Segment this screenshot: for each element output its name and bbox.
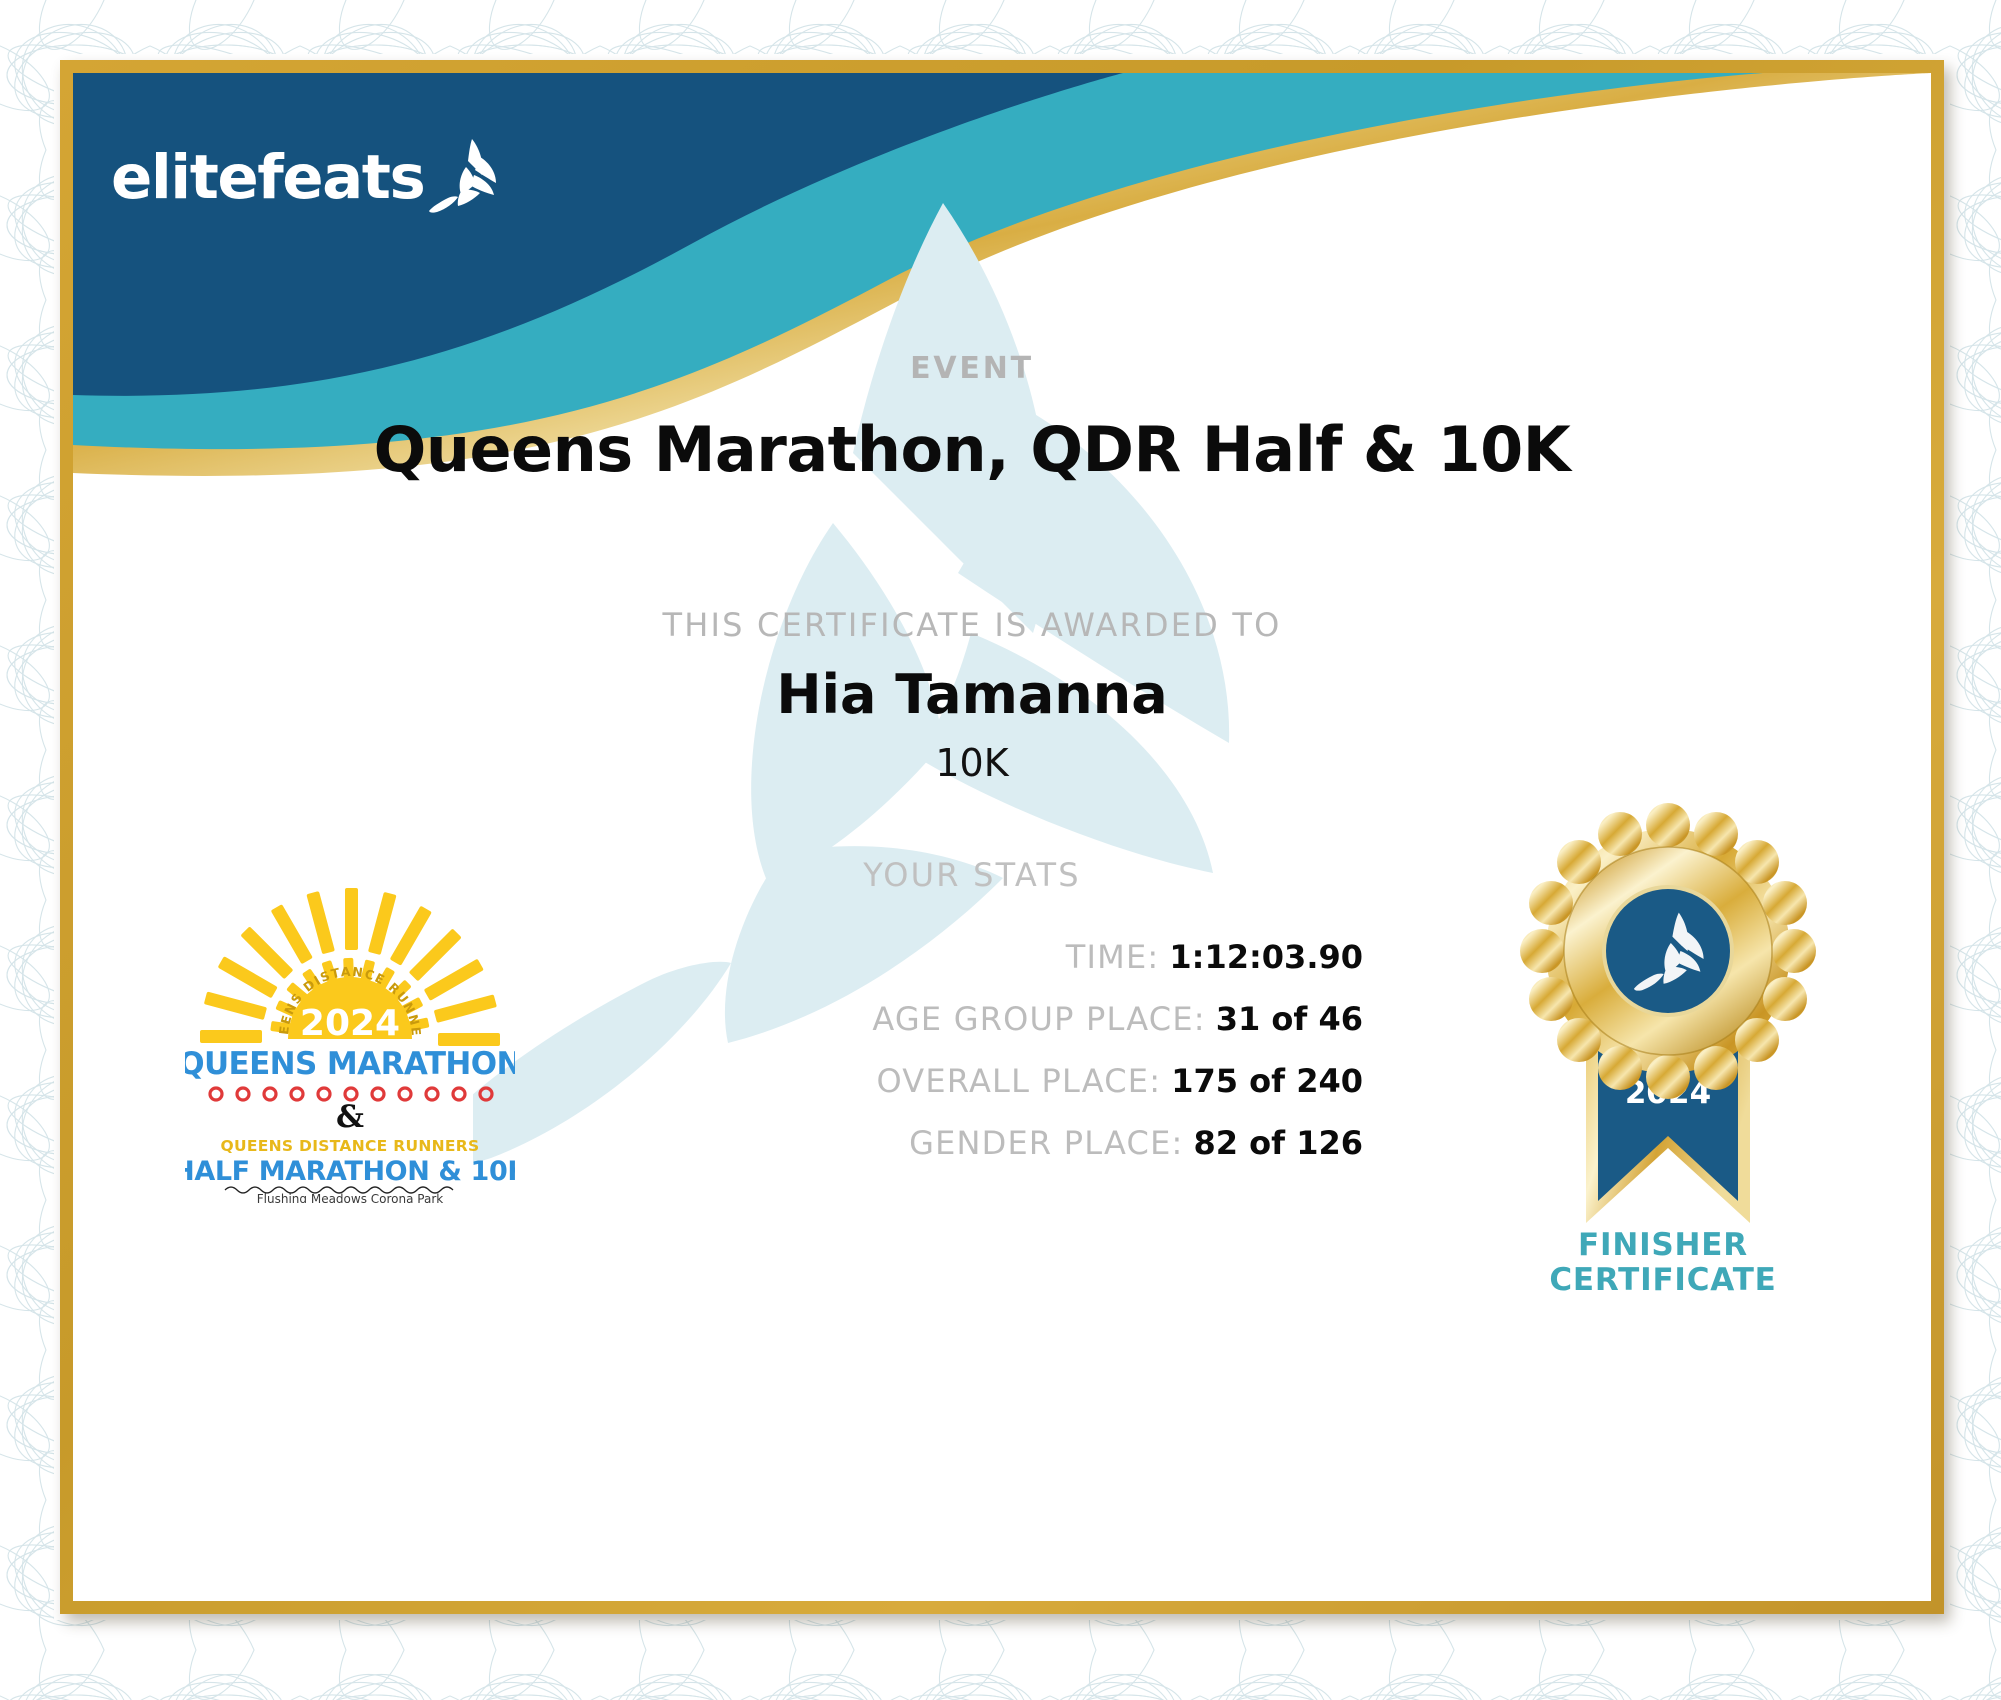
finisher-caption: FINISHER CERTIFICATE (1513, 1228, 1813, 1297)
logo-line2-small: QUEENS DISTANCE RUNNERS (220, 1137, 479, 1155)
finisher-caption-line1: FINISHER (1513, 1228, 1813, 1263)
certificate-content: EVENT Queens Marathon, QDR Half & 10K TH… (73, 73, 1931, 1601)
stat-row-time: TIME: 1:12:03.90 (503, 938, 1363, 976)
brand-logo: elitefeats (111, 135, 502, 219)
event-title: Queens Marathon, QDR Half & 10K (73, 413, 1931, 486)
stats-list: TIME: 1:12:03.90 AGE GROUP PLACE: 31 of … (503, 938, 1363, 1186)
stat-value: 175 of 240 (1171, 1062, 1363, 1100)
stat-value: 1:12:03.90 (1169, 938, 1363, 976)
event-label: EVENT (73, 351, 1931, 386)
stat-value: 31 of 46 (1216, 1000, 1363, 1038)
winged-foot-icon (428, 135, 502, 219)
recipient-event-distance: 10K (73, 741, 1931, 785)
stat-row-gender-place: GENDER PLACE: 82 of 126 (503, 1124, 1363, 1162)
stat-row-age-group-place: AGE GROUP PLACE: 31 of 46 (503, 1000, 1363, 1038)
medal-rosette (1520, 803, 1816, 1099)
recipient-name: Hia Tamanna (73, 663, 1931, 726)
logo-line1: QUEENS MARATHON (185, 1046, 515, 1082)
gold-frame: elitefeats (60, 60, 1944, 1614)
stat-row-overall-place: OVERALL PLACE: 175 of 240 (503, 1062, 1363, 1100)
logo-ampersand: & (336, 1099, 364, 1135)
awarded-to-label: THIS CERTIFICATE IS AWARDED TO (73, 606, 1931, 644)
stat-label: GENDER PLACE: (909, 1124, 1183, 1162)
logo-venue: Flushing Meadows Corona Park (257, 1192, 443, 1203)
certificate-page: elitefeats (0, 0, 2001, 1700)
logo-year: 2024 (300, 1003, 400, 1044)
stat-label: TIME: (1066, 938, 1160, 976)
stat-value: 82 of 126 (1193, 1124, 1363, 1162)
stat-label: OVERALL PLACE: (876, 1062, 1161, 1100)
finisher-caption-line2: CERTIFICATE (1513, 1263, 1813, 1298)
certificate-card: elitefeats (73, 73, 1931, 1601)
stat-label: AGE GROUP PLACE: (872, 1000, 1205, 1038)
brand-name: elitefeats (111, 142, 424, 213)
queens-marathon-event-logo: QUEENS DISTANCE RUNNERS 2024 QUEENS MARA… (185, 863, 515, 1203)
logo-line3: HALF MARATHON & 10K (185, 1156, 515, 1187)
